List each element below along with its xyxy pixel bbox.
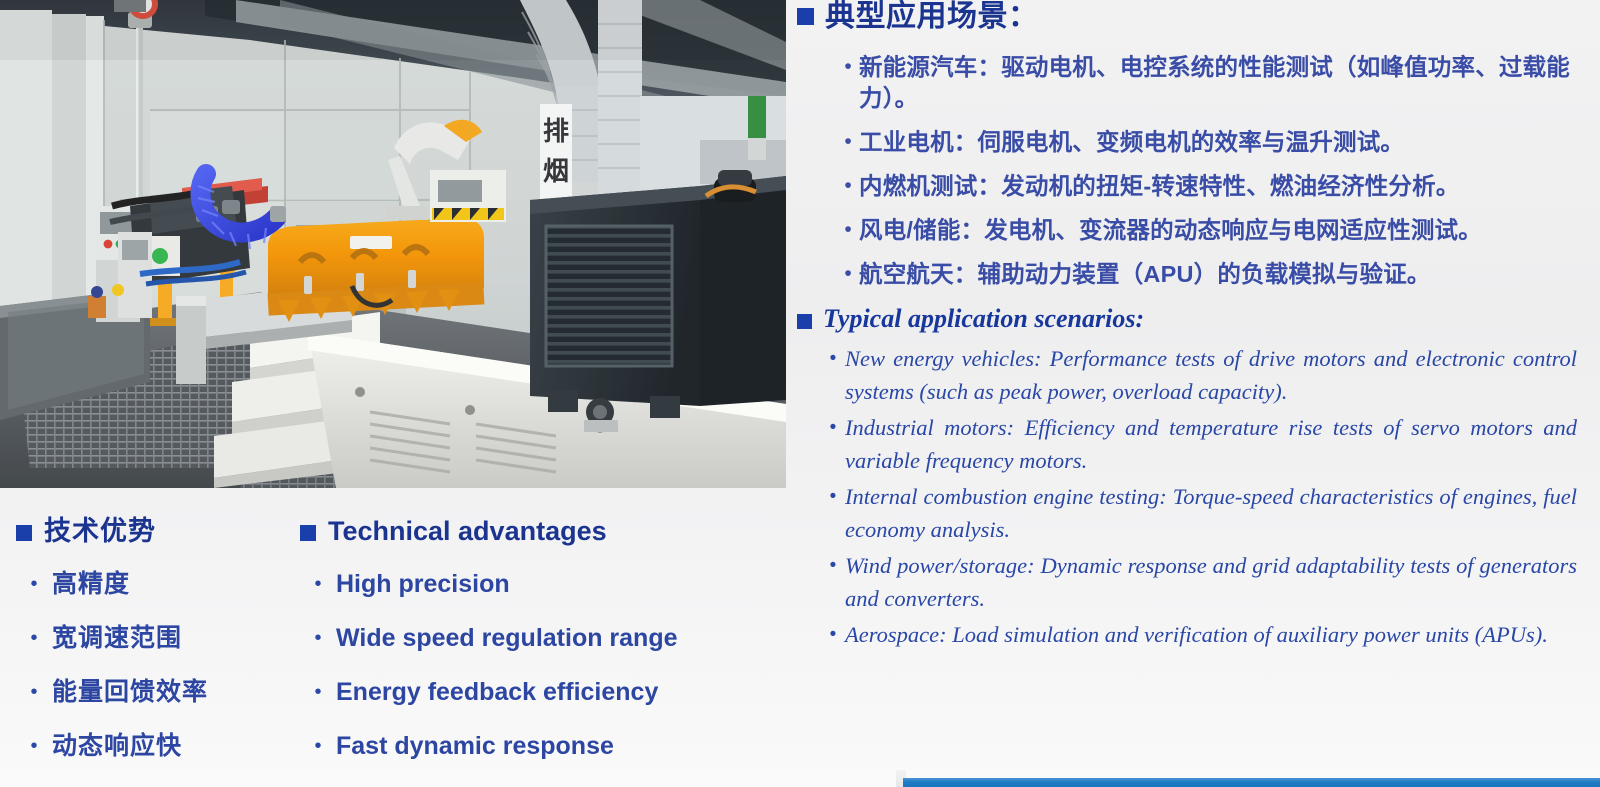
advantages-en-list: • High precision • Wide speed regulation…: [300, 567, 770, 783]
round-bullet-icon: •: [16, 729, 52, 763]
advantage-cn-1: 高精度: [52, 567, 130, 601]
list-item: • 高精度: [16, 567, 306, 621]
scenarios-cn-heading-row: 典型应用场景：: [797, 2, 1597, 32]
scenarios-cn-list: • 新能源汽车：驱动电机、电控系统的性能测试（如峰值功率、过载能力）。 • 工业…: [837, 52, 1585, 290]
advantage-cn-2: 宽调速范围: [52, 621, 182, 655]
advantages-cn-block: 技术优势 • 高精度 • 宽调速范围 • 能量回馈效率 • 动态响应快: [16, 518, 306, 783]
round-bullet-icon: •: [837, 127, 859, 157]
round-bullet-icon: •: [837, 52, 859, 82]
round-bullet-icon: •: [837, 215, 859, 245]
advantage-en-3: Energy feedback efficiency: [336, 675, 658, 709]
list-item: • 航空航天：辅助动力装置（APU）的负载模拟与验证。: [837, 259, 1585, 290]
advantages-cn-heading-row: 技术优势: [16, 518, 306, 545]
square-bullet-icon: [300, 525, 316, 541]
advantages-en-block: Technical advantages • High precision • …: [300, 518, 770, 783]
list-item: • 宽调速范围: [16, 621, 306, 675]
list-item: • 内燃机测试：发动机的扭矩-转速特性、燃油经济性分析。: [837, 171, 1585, 202]
scenarios-en-heading-row: Typical application scenarios:: [797, 306, 1597, 332]
round-bullet-icon: •: [300, 729, 336, 763]
bottom-accent-bar: [903, 778, 1600, 787]
advantages-cn-heading: 技术优势: [44, 518, 156, 545]
list-item: • Wide speed regulation range: [300, 621, 770, 675]
square-bullet-icon: [16, 525, 32, 541]
scenario-en-text-1: New energy vehicles: Performance tests o…: [845, 342, 1581, 408]
square-bullet-icon: [797, 314, 812, 329]
round-bullet-icon: •: [300, 675, 336, 709]
scenario-en-text-5: Aerospace: Load simulation and verificat…: [845, 618, 1581, 651]
scenario-cn-text-3: 内燃机测试：发动机的扭矩-转速特性、燃油经济性分析。: [859, 171, 1585, 202]
scenarios-column: 典型应用场景： • 新能源汽车：驱动电机、电控系统的性能测试（如峰值功率、过载能…: [797, 0, 1597, 787]
photo-illustration: 排 烟: [0, 0, 786, 488]
advantages-cn-list: • 高精度 • 宽调速范围 • 能量回馈效率 • 动态响应快: [16, 567, 306, 783]
list-item: • Industrial motors: Efficiency and temp…: [821, 411, 1581, 477]
list-item: • High precision: [300, 567, 770, 621]
list-item: • 动态响应快: [16, 729, 306, 783]
list-item: • 工业电机：伺服电机、变频电机的效率与温升测试。: [837, 127, 1585, 158]
advantages-en-heading: Technical advantages: [328, 518, 607, 545]
round-bullet-icon: •: [300, 621, 336, 655]
slide-canvas: 排 烟: [0, 0, 1600, 787]
round-bullet-icon: •: [821, 342, 845, 375]
advantage-en-2: Wide speed regulation range: [336, 621, 678, 655]
round-bullet-icon: •: [837, 259, 859, 289]
round-bullet-icon: •: [821, 480, 845, 513]
scenario-cn-text-4: 风电/储能：发电机、变流器的动态响应与电网适应性测试。: [859, 215, 1585, 246]
list-item: • New energy vehicles: Performance tests…: [821, 342, 1581, 408]
round-bullet-icon: •: [300, 567, 336, 601]
round-bullet-icon: •: [837, 171, 859, 201]
list-item: • Internal combustion engine testing: To…: [821, 480, 1581, 546]
list-item: • 风电/储能：发电机、变流器的动态响应与电网适应性测试。: [837, 215, 1585, 246]
advantage-cn-3: 能量回馈效率: [52, 675, 208, 709]
list-item: • Energy feedback efficiency: [300, 675, 770, 729]
list-item: • 能量回馈效率: [16, 675, 306, 729]
scenario-en-text-4: Wind power/storage: Dynamic response and…: [845, 549, 1581, 615]
list-item: • Wind power/storage: Dynamic response a…: [821, 549, 1581, 615]
scenario-en-text-2: Industrial motors: Efficiency and temper…: [845, 411, 1581, 477]
scenarios-en-list: • New energy vehicles: Performance tests…: [821, 342, 1581, 651]
list-item: • Fast dynamic response: [300, 729, 770, 783]
advantage-en-4: Fast dynamic response: [336, 729, 614, 763]
scenario-en-text-3: Internal combustion engine testing: Torq…: [845, 480, 1581, 546]
list-item: • Aerospace: Load simulation and verific…: [821, 618, 1581, 651]
round-bullet-icon: •: [821, 618, 845, 651]
round-bullet-icon: •: [16, 621, 52, 655]
advantage-cn-4: 动态响应快: [52, 729, 182, 763]
scenario-cn-text-2: 工业电机：伺服电机、变频电机的效率与温升测试。: [859, 127, 1585, 158]
square-bullet-icon: [797, 8, 814, 25]
advantage-en-1: High precision: [336, 567, 510, 601]
round-bullet-icon: •: [16, 675, 52, 709]
round-bullet-icon: •: [821, 411, 845, 444]
list-item: • 新能源汽车：驱动电机、电控系统的性能测试（如峰值功率、过载能力）。: [837, 52, 1585, 114]
round-bullet-icon: •: [16, 567, 52, 601]
round-bullet-icon: •: [821, 549, 845, 582]
scenario-cn-text-1: 新能源汽车：驱动电机、电控系统的性能测试（如峰值功率、过载能力）。: [859, 52, 1585, 114]
scenarios-cn-heading: 典型应用场景：: [825, 2, 1039, 32]
scenarios-en-heading: Typical application scenarios:: [823, 306, 1144, 332]
advantages-en-heading-row: Technical advantages: [300, 518, 770, 545]
motor-dynamometer-test-bench-photo: 排 烟: [0, 0, 786, 488]
scenario-cn-text-5: 航空航天：辅助动力装置（APU）的负载模拟与验证。: [859, 259, 1585, 290]
